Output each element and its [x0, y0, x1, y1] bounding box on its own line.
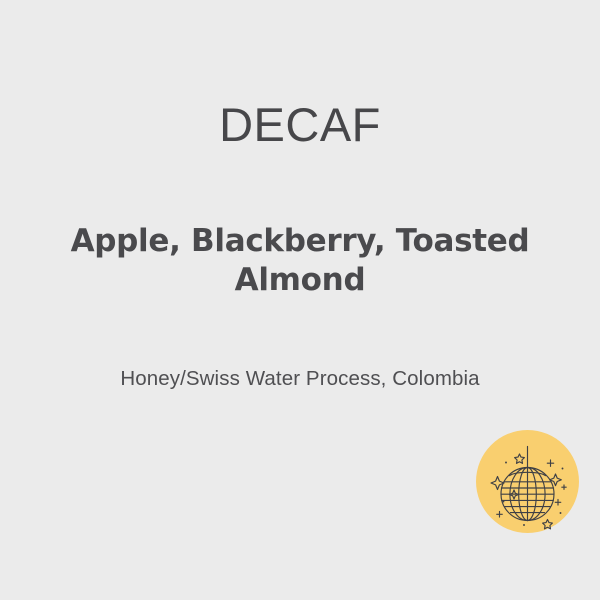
process-origin: Honey/Swiss Water Process, Colombia: [30, 366, 570, 393]
sparkle-icon: [547, 460, 553, 466]
disco-ball-badge: [476, 430, 579, 533]
page-title: DECAF: [0, 99, 600, 152]
sparkle-icon: [497, 512, 503, 518]
star-icon: [543, 520, 553, 529]
star-icon: [515, 454, 525, 463]
disco-ball-icon: [476, 430, 579, 533]
sparkle-icon: [555, 500, 561, 506]
sparkle-icon: [562, 485, 566, 489]
flavor-notes: Apple, Blackberry, Toasted Almond: [50, 222, 550, 301]
product-card: DECAF Apple, Blackberry, Toasted Almond …: [0, 0, 600, 600]
